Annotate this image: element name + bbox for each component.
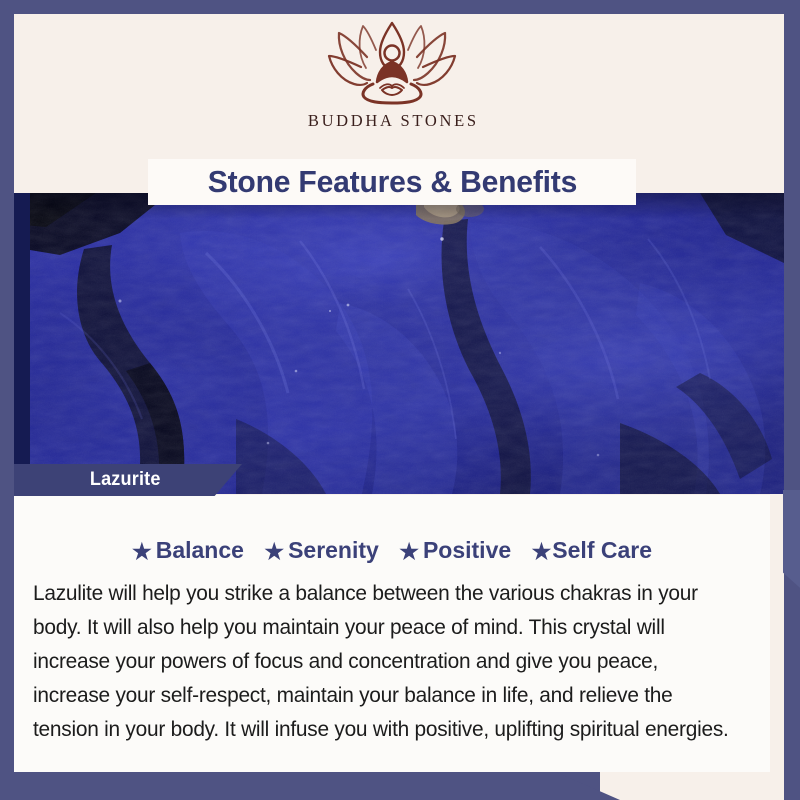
frame-top-band <box>0 0 800 14</box>
benefit-label: Balance <box>156 537 244 564</box>
benefit-item: ★Positive <box>399 537 511 564</box>
stone-photo <box>0 193 784 494</box>
page-title: Stone Features & Benefits <box>148 159 636 205</box>
brand-logo: BUDDHA STONES <box>0 20 784 131</box>
star-icon: ★ <box>532 541 552 563</box>
benefit-label: Self Care <box>552 537 652 564</box>
content-panel: ★Balance ★Serenity ★Positive ★Self Care … <box>14 495 770 772</box>
star-icon: ★ <box>132 541 152 563</box>
benefit-item: ★Serenity <box>264 537 379 564</box>
benefits-row: ★Balance ★Serenity ★Positive ★Self Care <box>14 537 770 564</box>
stone-name-label: Lazurite <box>90 469 161 491</box>
benefit-label: Serenity <box>288 537 379 564</box>
frame-bottom-band <box>0 772 600 800</box>
stone-name-banner: Lazurite <box>14 464 242 496</box>
brand-name: BUDDHA STONES <box>0 111 784 131</box>
page-title-text: Stone Features & Benefits <box>207 164 576 200</box>
poster-card: BUDDHA STONES <box>0 14 784 786</box>
frame-bottom-right-cream <box>600 772 800 800</box>
lotus-meditation-icon <box>324 20 460 106</box>
frame-right-band <box>784 0 800 800</box>
star-icon: ★ <box>399 541 419 563</box>
benefit-item: ★Self Care <box>532 537 652 564</box>
stone-description: Lazulite will help you strike a balance … <box>33 577 740 747</box>
frame-left-band <box>0 14 14 786</box>
infographic-poster: BUDDHA STONES <box>0 0 800 800</box>
benefit-item: ★Balance <box>132 537 244 564</box>
star-icon: ★ <box>264 541 284 563</box>
benefit-label: Positive <box>423 537 511 564</box>
